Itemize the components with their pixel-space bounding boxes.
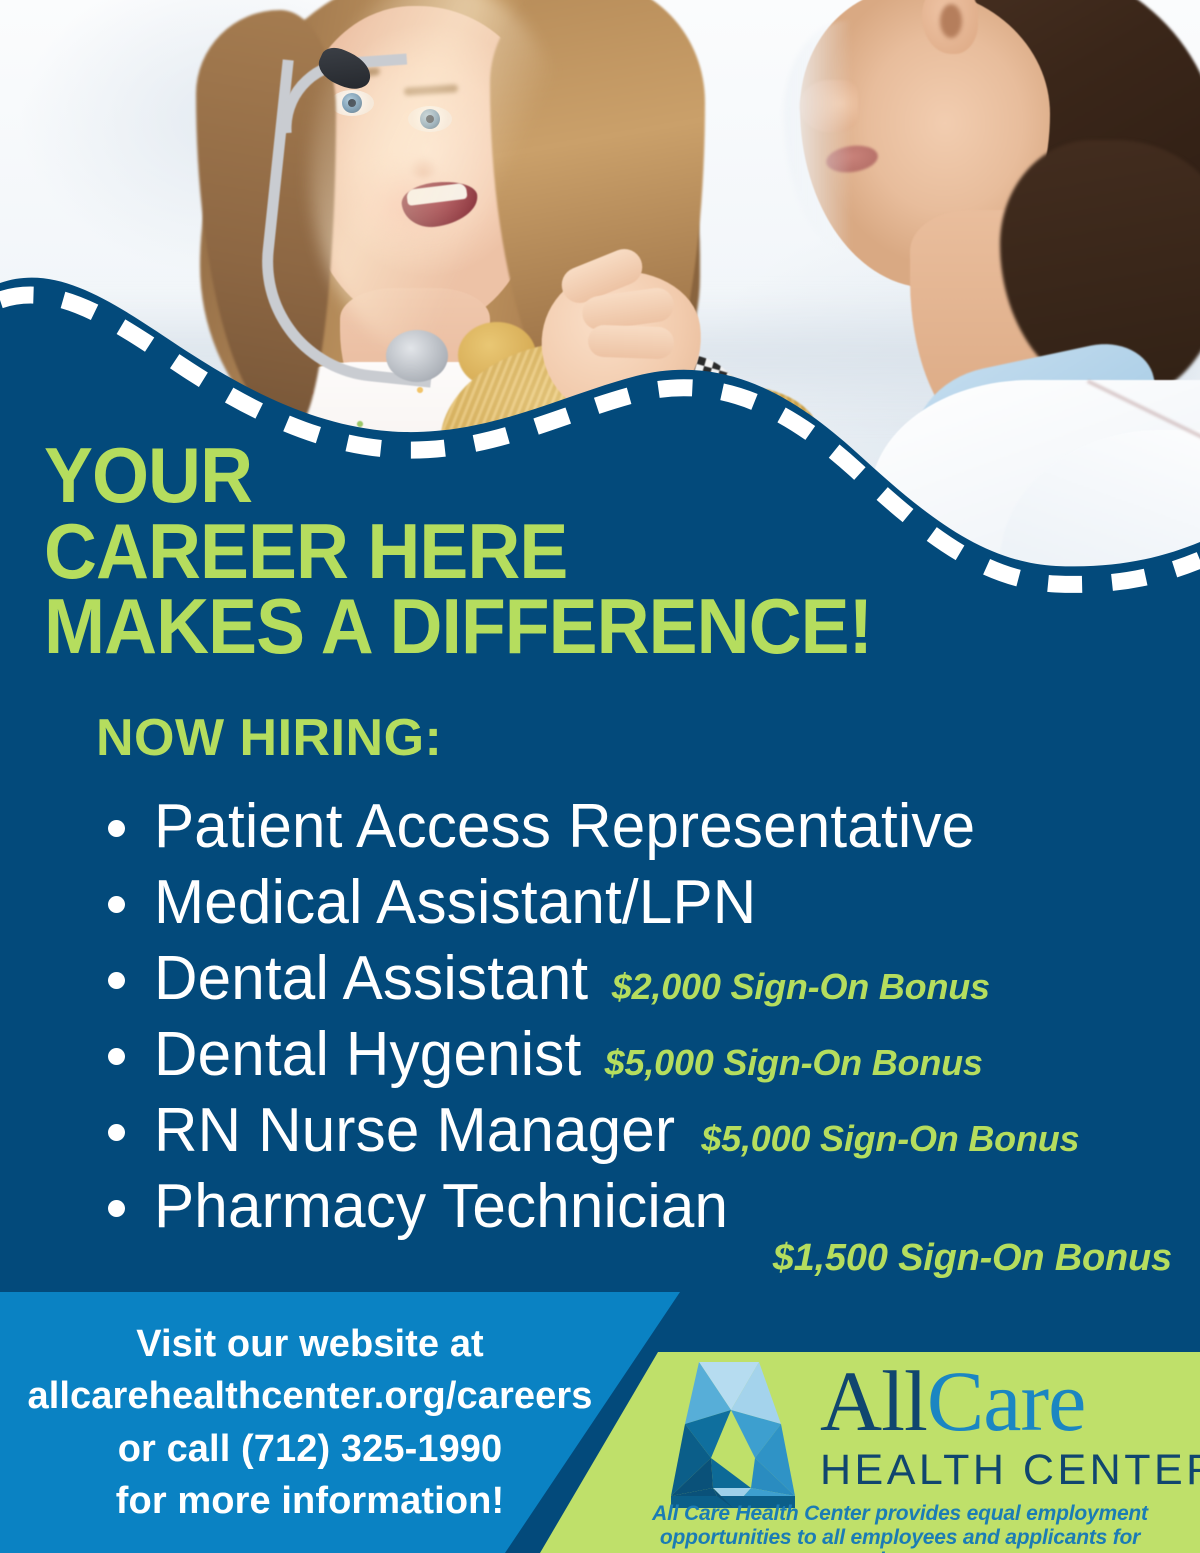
allcare-logo-icon (655, 1362, 807, 1512)
sign-on-bonus-badge: $5,000 Sign-On Bonus (605, 1042, 983, 1083)
now-hiring-label: NOW HIRING: (96, 708, 442, 768)
logo-subtitle: HEALTH CENTER (820, 1446, 1190, 1495)
headline-line-3: MAKES A DIFFERENCE! (44, 589, 1087, 665)
list-item: Dental Assistant$2,000 Sign-On Bonus (92, 942, 1182, 1016)
job-openings-list: Patient Access Representative Medical As… (92, 790, 1182, 1282)
eeo-line-2: opportunities to all employees and appli… (600, 1526, 1200, 1553)
website-url[interactable]: allcarehealthcenter.org/careers (0, 1370, 620, 1422)
clinician-profile-edge (784, 20, 894, 250)
job-title: Medical Assistant/LPN (154, 866, 756, 939)
list-item: Medical Assistant/LPN (92, 866, 1182, 940)
equal-employment-statement: All Care Health Center provides equal em… (600, 1502, 1200, 1553)
job-title: Dental Assistant (154, 942, 588, 1015)
bullet-icon (108, 972, 125, 989)
faceted-a-icon (655, 1362, 807, 1512)
headline-line-2: CAREER HERE (44, 514, 1087, 590)
bullet-icon (108, 1200, 125, 1217)
list-item: RN Nurse Manager$5,000 Sign-On Bonus (92, 1094, 1182, 1168)
bullet-icon (108, 1124, 125, 1141)
child-finger (587, 325, 674, 360)
list-item: Dental Hygenist$5,000 Sign-On Bonus (92, 1018, 1182, 1092)
sign-on-bonus-badge: $2,000 Sign-On Bonus (612, 966, 990, 1007)
bullet-icon (108, 820, 125, 837)
sign-on-bonus-badge: $1,500 Sign-On Bonus (154, 1237, 1172, 1280)
sign-on-bonus-badge: $5,000 Sign-On Bonus (701, 1118, 1079, 1159)
page-title: YOUR CAREER HERE MAKES A DIFFERENCE! (44, 438, 1087, 665)
clinician-ear-inner (940, 4, 962, 38)
phone-number[interactable]: or call (712) 325-1990 (0, 1423, 620, 1475)
headline-line-1: YOUR (44, 438, 1087, 514)
logo-word-care: Care (927, 1353, 1085, 1449)
contact-line-4: for more information! (0, 1475, 620, 1527)
eeo-line-1: All Care Health Center provides equal em… (600, 1502, 1200, 1526)
job-title: Patient Access Representative (154, 790, 975, 863)
job-title: Pharmacy Technician (154, 1170, 728, 1243)
recruitment-poster: YOUR CAREER HERE MAKES A DIFFERENCE! NOW… (0, 0, 1200, 1553)
contact-line-1: Visit our website at (0, 1318, 620, 1370)
list-item: Patient Access Representative (92, 790, 1182, 864)
logo-word-all: All (820, 1353, 927, 1449)
bullet-icon (108, 896, 125, 913)
logo-name-row: AllCare (820, 1358, 1190, 1444)
allcare-wordmark: AllCare HEALTH CENTER (820, 1358, 1190, 1495)
list-item: Pharmacy Technician $1,500 Sign-On Bonus (92, 1170, 1182, 1280)
job-title: RN Nurse Manager (154, 1094, 675, 1167)
job-title: Dental Hygenist (154, 1018, 581, 1091)
contact-info: Visit our website at allcarehealthcenter… (0, 1318, 620, 1528)
bullet-icon (108, 1048, 125, 1065)
